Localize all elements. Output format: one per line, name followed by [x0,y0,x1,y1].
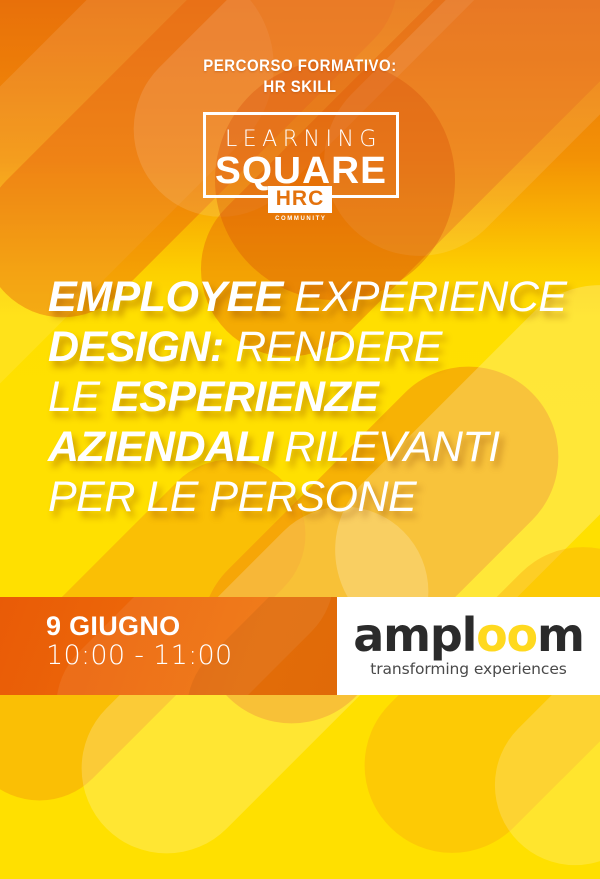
event-date: 9 GIUGNO [46,612,232,641]
eyebrow-line-1: PERCORSO FORMATIVO: [203,56,396,75]
headline-word-light: RILEVANTI [273,423,500,471]
headline-line-5: PER LE PERSONE [48,472,580,522]
hrc-community-logo: HRC COMMUNITY [268,186,332,222]
headline-word-bold: AZIENDALI [48,423,273,471]
event-time: 10:00 - 11:00 [46,641,232,670]
wordmark-oo-highlight: oo [476,608,537,662]
promotional-poster: PERCORSO FORMATIVO: HR SKILL LEARNING SQ… [0,0,600,879]
headline-line-4: AZIENDALI RILEVANTI [48,422,580,472]
headline-word-bold: DESIGN: [48,323,224,371]
headline: EMPLOYEE EXPERIENCE DESIGN: RENDERE LE E… [48,272,580,522]
amploom-wordmark: amploom [353,614,583,658]
headline-word-light: RENDERE [224,323,442,371]
hrc-sublabel: COMMUNITY [268,216,332,222]
headline-word-light: PER LE PERSONE [48,473,416,521]
logo-word-square: SQUARE [204,152,398,190]
logo-word-learning: LEARNING [206,127,396,152]
eyebrow-line-2: HR SKILL [263,77,336,96]
headline-line-2: DESIGN: RENDERE [48,322,580,372]
eyebrow-kicker: PERCORSO FORMATIVO: HR SKILL [36,56,564,97]
headline-line-1: EMPLOYEE EXPERIENCE [48,272,580,322]
headline-line-3: LE ESPERIENZE [48,372,580,422]
wordmark-part-2: m [537,608,584,662]
wordmark-part-1: ampl [353,608,476,662]
partner-tagline: transforming experiences [370,660,566,678]
headline-word-bold: EMPLOYEE [48,273,283,321]
headline-word-light: LE [48,373,111,421]
headline-word-bold: ESPERIENZE [111,373,378,421]
event-schedule: 9 GIUGNO 10:00 - 11:00 [46,612,232,670]
headline-word-light: EXPERIENCE [283,273,567,321]
partner-logo-plate: amploom transforming experiences [337,597,600,695]
hrc-mark: HRC [268,186,332,213]
